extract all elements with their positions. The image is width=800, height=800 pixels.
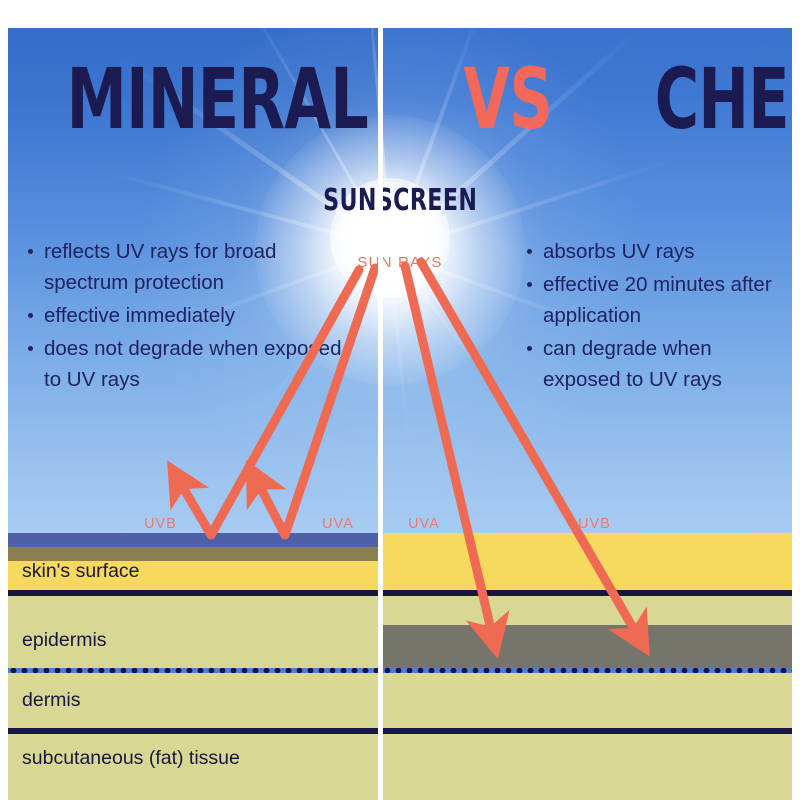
epidermis-dermis-divider <box>8 668 792 673</box>
center-divider <box>378 28 383 800</box>
uv-label-uvb-left: UVB <box>144 516 177 532</box>
sunscreen-film-layer-2 <box>8 547 378 561</box>
layer-label-skin-surface: skin's surface <box>22 560 140 583</box>
list-item: effective immediately <box>44 300 342 331</box>
subtitle-text: SUNSCREEN <box>323 183 477 218</box>
mineral-benefits-list: reflects UV rays for broad spectrum prot… <box>22 236 342 397</box>
chemical-traits-list: absorbs UV rays effective 20 minutes aft… <box>521 236 783 397</box>
list-item: does not degrade when exposed to UV rays <box>44 333 342 395</box>
skin-surface-band <box>383 533 792 590</box>
page-title: MINERAL VS CHEMICAL <box>8 56 792 142</box>
surface-epidermis-divider <box>8 590 792 596</box>
dermis-band <box>8 673 792 728</box>
uv-label-uvb-right: UVB <box>578 516 611 532</box>
list-item: can degrade when exposed to UV rays <box>543 333 783 395</box>
title-word-chemical: CHEMICAL <box>655 56 792 142</box>
dermis-subcutaneous-divider <box>8 728 792 734</box>
subtitle: SUNSCREEN <box>8 183 792 218</box>
layer-label-subcutaneous: subcutaneous (fat) tissue <box>22 747 240 770</box>
sunscreen-film-layer <box>8 533 378 547</box>
uv-label-uva-left: UVA <box>322 516 354 532</box>
list-item: reflects UV rays for broad spectrum prot… <box>44 236 342 298</box>
list-item: absorbs UV rays <box>543 236 783 267</box>
infographic-canvas: skin's surface epidermis dermis subcutan… <box>0 0 800 800</box>
title-word-vs: VS <box>463 56 552 142</box>
layer-label-epidermis: epidermis <box>22 629 107 652</box>
layer-label-dermis: dermis <box>22 689 81 712</box>
absorption-band <box>383 625 792 668</box>
artwork-frame: skin's surface epidermis dermis subcutan… <box>8 28 792 800</box>
list-item: effective 20 minutes after application <box>543 269 783 331</box>
uv-label-uva-right: UVA <box>408 516 440 532</box>
title-word-mineral: MINERAL <box>67 56 369 142</box>
